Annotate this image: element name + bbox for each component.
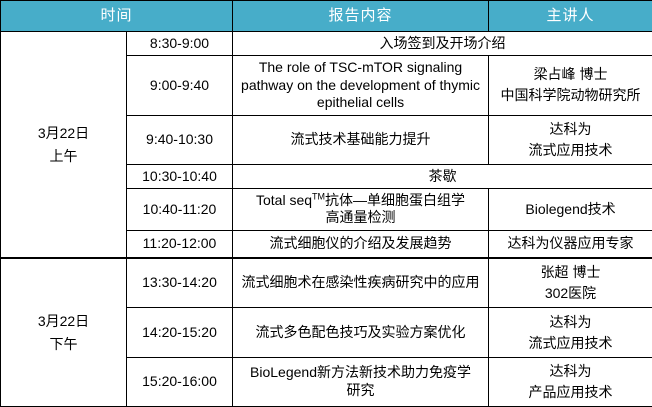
topic-cell: 流式技术基础能力提升 — [233, 115, 489, 164]
speaker-affiliation: 流式应用技术 — [492, 140, 649, 161]
time-cell: 8:30-9:00 — [127, 32, 233, 56]
speaker-affiliation: 产品应用技术 — [492, 382, 649, 403]
speaker-cell: 梁占峰 博士 中国科学院动物研究所 — [489, 55, 652, 115]
speaker-name: 达科为 — [492, 312, 649, 333]
topic-cell: 茶歇 — [233, 165, 652, 189]
trademark-superscript: TM — [312, 191, 325, 201]
topic-text-line2: 高通量检测 — [239, 209, 482, 227]
table-body: 3月22日 上午 8:30-9:00 入场签到及开场介绍 9:00-9:40 T… — [1, 32, 652, 407]
session-date: 3月22日 — [4, 122, 123, 144]
time-cell: 10:40-11:20 — [127, 188, 233, 230]
speaker-cell: 达科为 流式应用技术 — [489, 308, 652, 357]
table-row: 3月22日 下午 13:30-14:20 流式细胞术在感染性疾病研究中的应用 张… — [1, 258, 652, 308]
time-cell: 9:00-9:40 — [127, 55, 233, 115]
speaker-affiliation: 302医院 — [492, 283, 649, 304]
session-label-afternoon: 3月22日 下午 — [1, 258, 127, 406]
time-cell: 13:30-14:20 — [127, 258, 233, 308]
speaker-name: 张超 博士 — [492, 262, 649, 283]
column-header-speaker: 主讲人 — [489, 1, 652, 32]
session-period: 下午 — [4, 333, 123, 355]
agenda-table: 时间 报告内容 主讲人 3月22日 上午 8:30-9:00 入场签到及开场介绍… — [0, 0, 652, 407]
time-cell: 11:20-12:00 — [127, 230, 233, 258]
time-cell: 14:20-15:20 — [127, 308, 233, 357]
time-cell: 10:30-10:40 — [127, 165, 233, 189]
column-header-time: 时间 — [1, 1, 233, 32]
speaker-name: 达科为 — [492, 361, 649, 382]
speaker-affiliation: 流式应用技术 — [492, 333, 649, 354]
topic-text-line1: BioLegend新方法新技术助力免疫学 — [250, 364, 471, 380]
table-row: 3月22日 上午 8:30-9:00 入场签到及开场介绍 — [1, 32, 652, 56]
header-row: 时间 报告内容 主讲人 — [1, 1, 652, 32]
column-header-topic: 报告内容 — [233, 1, 489, 32]
speaker-cell: 达科为 流式应用技术 — [489, 115, 652, 164]
speaker-cell: 达科为仪器应用专家 — [489, 230, 652, 258]
speaker-affiliation: 中国科学院动物研究所 — [492, 85, 649, 106]
topic-cell: 入场签到及开场介绍 — [233, 32, 652, 56]
topic-cell: Total seqTM抗体—单细胞蛋白组学 高通量检测 — [233, 188, 489, 230]
session-label-morning: 3月22日 上午 — [1, 32, 127, 259]
topic-cell: 流式多色配色技巧及实验方案优化 — [233, 308, 489, 357]
topic-cell: BioLegend新方法新技术助力免疫学 研究 — [233, 357, 489, 406]
time-cell: 9:40-10:30 — [127, 115, 233, 164]
table-header: 时间 报告内容 主讲人 — [1, 1, 652, 32]
session-period: 上午 — [4, 145, 123, 167]
topic-cell: 流式细胞仪的介绍及发展趋势 — [233, 230, 489, 258]
topic-cell: 流式细胞术在感染性疾病研究中的应用 — [233, 258, 489, 308]
speaker-cell: 张超 博士 302医院 — [489, 258, 652, 308]
topic-text-prefix: Total seq — [256, 192, 312, 208]
speaker-name: 梁占峰 博士 — [492, 64, 649, 85]
topic-text-line2: 研究 — [239, 382, 482, 400]
topic-cell: The role of TSC-mTOR signaling pathway o… — [233, 55, 489, 115]
topic-text-suffix: 抗体—单细胞蛋白组学 — [325, 192, 465, 208]
speaker-name: 达科为 — [492, 119, 649, 140]
session-date: 3月22日 — [4, 310, 123, 332]
speaker-cell: Biolegend技术 — [489, 188, 652, 230]
speaker-cell: 达科为 产品应用技术 — [489, 357, 652, 406]
time-cell: 15:20-16:00 — [127, 357, 233, 406]
